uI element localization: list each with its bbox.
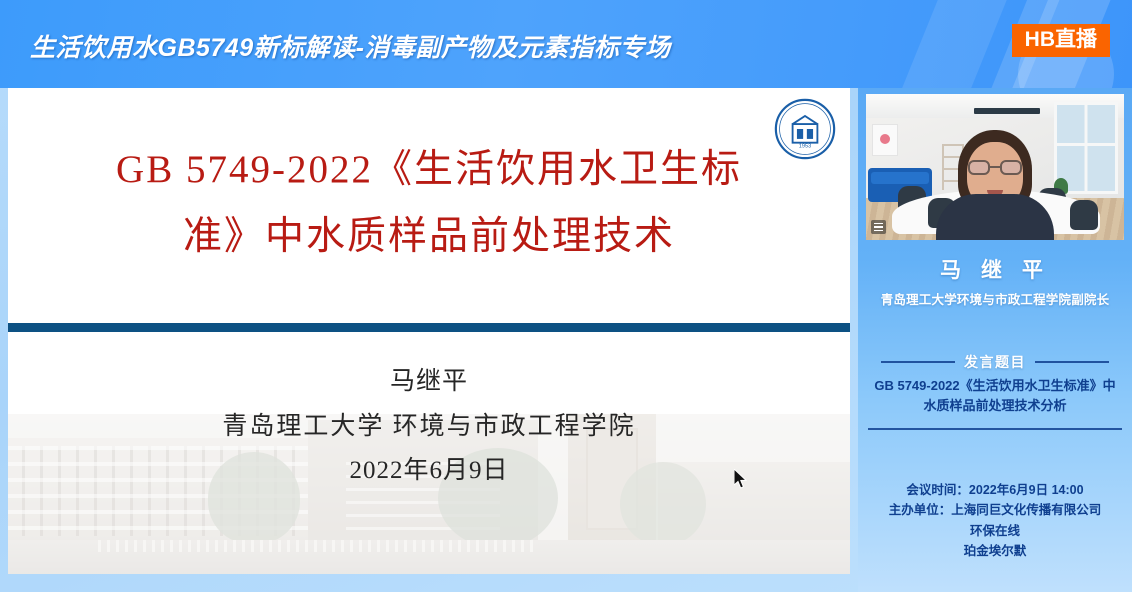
arrow-cursor bbox=[734, 469, 748, 490]
meeting-time-label: 会议时间： bbox=[906, 483, 969, 497]
live-stream-window: 生活饮用水GB5749新标解读-消毒副产物及元素指标专场 HB直播 1953 bbox=[0, 0, 1132, 592]
slide-title-line-2: 准》中水质样品前处理技术 bbox=[48, 203, 810, 270]
topic-text-line-2: 水质样品前处理技术分析 bbox=[866, 396, 1124, 416]
organizer-name-2: 环保在线 bbox=[858, 521, 1132, 541]
header-decoration-slash bbox=[877, 0, 1022, 88]
topic-heading-label: 发言题目 bbox=[964, 352, 1026, 372]
header-bar: 生活饮用水GB5749新标解读-消毒副产物及元素指标专场 HB直播 bbox=[0, 0, 1132, 88]
speaker-video-feed[interactable] bbox=[866, 94, 1124, 240]
slide-title: GB 5749-2022《生活饮用水卫生标 准》中水质样品前处理技术 bbox=[8, 136, 850, 270]
topic-rule-left bbox=[881, 361, 955, 363]
slide-subtitle-author: 马继平 bbox=[8, 360, 850, 405]
speaker-name: 马 继 平 bbox=[858, 254, 1132, 284]
organizer-label: 主办单位： bbox=[889, 503, 952, 517]
meeting-time-row: 会议时间：2022年6月9日 14:00 bbox=[858, 480, 1132, 500]
speaker-info-panel: 马 继 平 青岛理工大学环境与市政工程学院副院长 发言题目 GB 5749-20… bbox=[858, 88, 1132, 592]
header-title: 生活饮用水GB5749新标解读-消毒副产物及元素指标专场 bbox=[30, 28, 670, 64]
slide-title-line-1: GB 5749-2022《生活饮用水卫生标 bbox=[48, 136, 810, 203]
topic-heading: 发言题目 bbox=[858, 352, 1132, 372]
meeting-time-value: 2022年6月9日 14:00 bbox=[969, 483, 1084, 497]
meeting-info: 会议时间：2022年6月9日 14:00 主办单位：上海同巨文化传播有限公司 环… bbox=[858, 480, 1132, 561]
speaker-title: 青岛理工大学环境与市政工程学院副院长 bbox=[858, 289, 1132, 308]
video-menu-icon[interactable] bbox=[871, 220, 886, 234]
slide-subtitle-date: 2022年6月9日 bbox=[8, 449, 850, 494]
topic-underline bbox=[868, 428, 1122, 430]
organizer-row: 主办单位：上海同巨文化传播有限公司 bbox=[858, 500, 1132, 520]
topic-rule-right bbox=[1035, 361, 1109, 363]
organizer-name-3: 珀金埃尔默 bbox=[858, 541, 1132, 561]
organizer-name-1: 上海同巨文化传播有限公司 bbox=[951, 503, 1101, 517]
presentation-slide[interactable]: 1953 GB 5749-2022《生活饮用水卫生标 准》中水质样品前处理技术 … bbox=[8, 88, 850, 574]
slide-subtitle: 马继平 青岛理工大学 环境与市政工程学院 2022年6月9日 bbox=[8, 360, 850, 494]
topic-text: GB 5749-2022《生活饮用水卫生标准》中 水质样品前处理技术分析 bbox=[866, 376, 1124, 416]
slide-divider bbox=[8, 323, 850, 332]
live-badge: HB直播 bbox=[1012, 24, 1110, 57]
topic-text-line-1: GB 5749-2022《生活饮用水卫生标准》中 bbox=[866, 376, 1124, 396]
slide-subtitle-affiliation: 青岛理工大学 环境与市政工程学院 bbox=[8, 405, 850, 450]
